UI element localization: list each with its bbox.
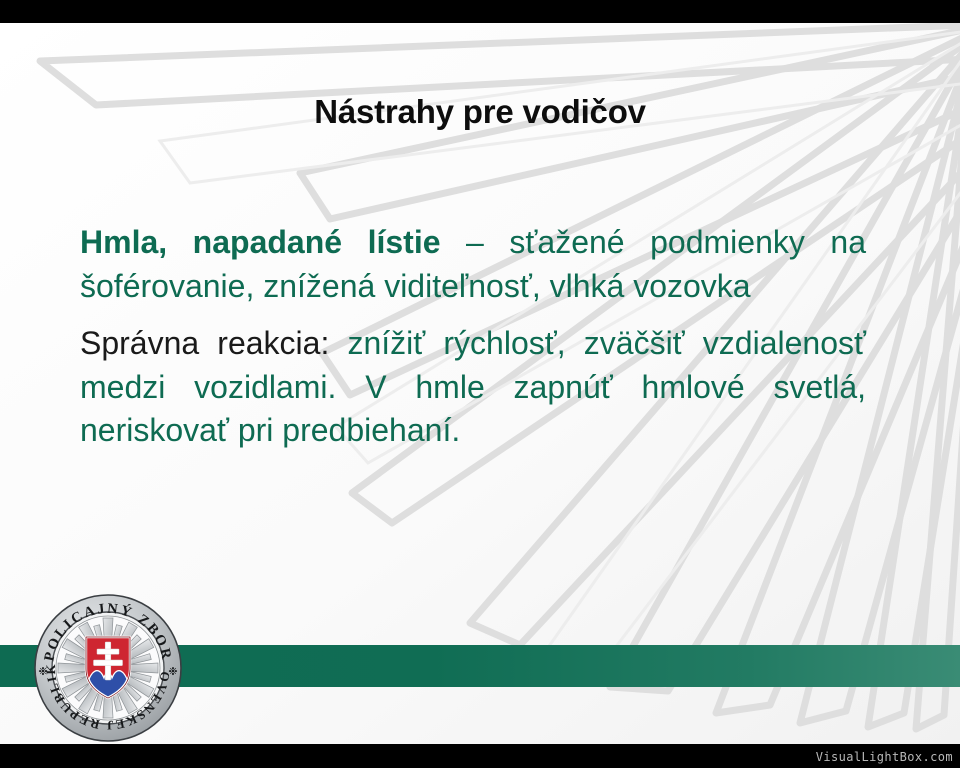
paragraph-1: Hmla, napadané lístie – sťažené podmienk… [80,221,866,308]
watermark-label: VisualLightBox.com [813,749,956,765]
paragraph-1-lead: Hmla, napadané lístie [80,224,441,260]
paragraph-2: Správna reakcia: znížiť rýchlosť, zväčši… [80,322,866,453]
letterbox-bar-top [0,0,960,23]
page-title: Nástrahy pre vodičov [0,93,960,131]
svg-text:❉: ❉ [168,666,177,678]
slide-root: Nástrahy pre vodičov Hmla, napadané líst… [0,0,960,768]
paragraph-2-lead: Správna reakcia: [80,325,329,361]
svg-text:❉: ❉ [38,666,47,678]
slovak-police-badge-icon: POLICAJNÝ ZBOR SLOVENSKEJ REPUBLIKY ❉ ❉ [33,593,183,743]
slide-canvas: Nástrahy pre vodičov Hmla, napadané líst… [0,23,960,744]
body-text-block: Hmla, napadané lístie – sťažené podmienk… [80,221,866,453]
